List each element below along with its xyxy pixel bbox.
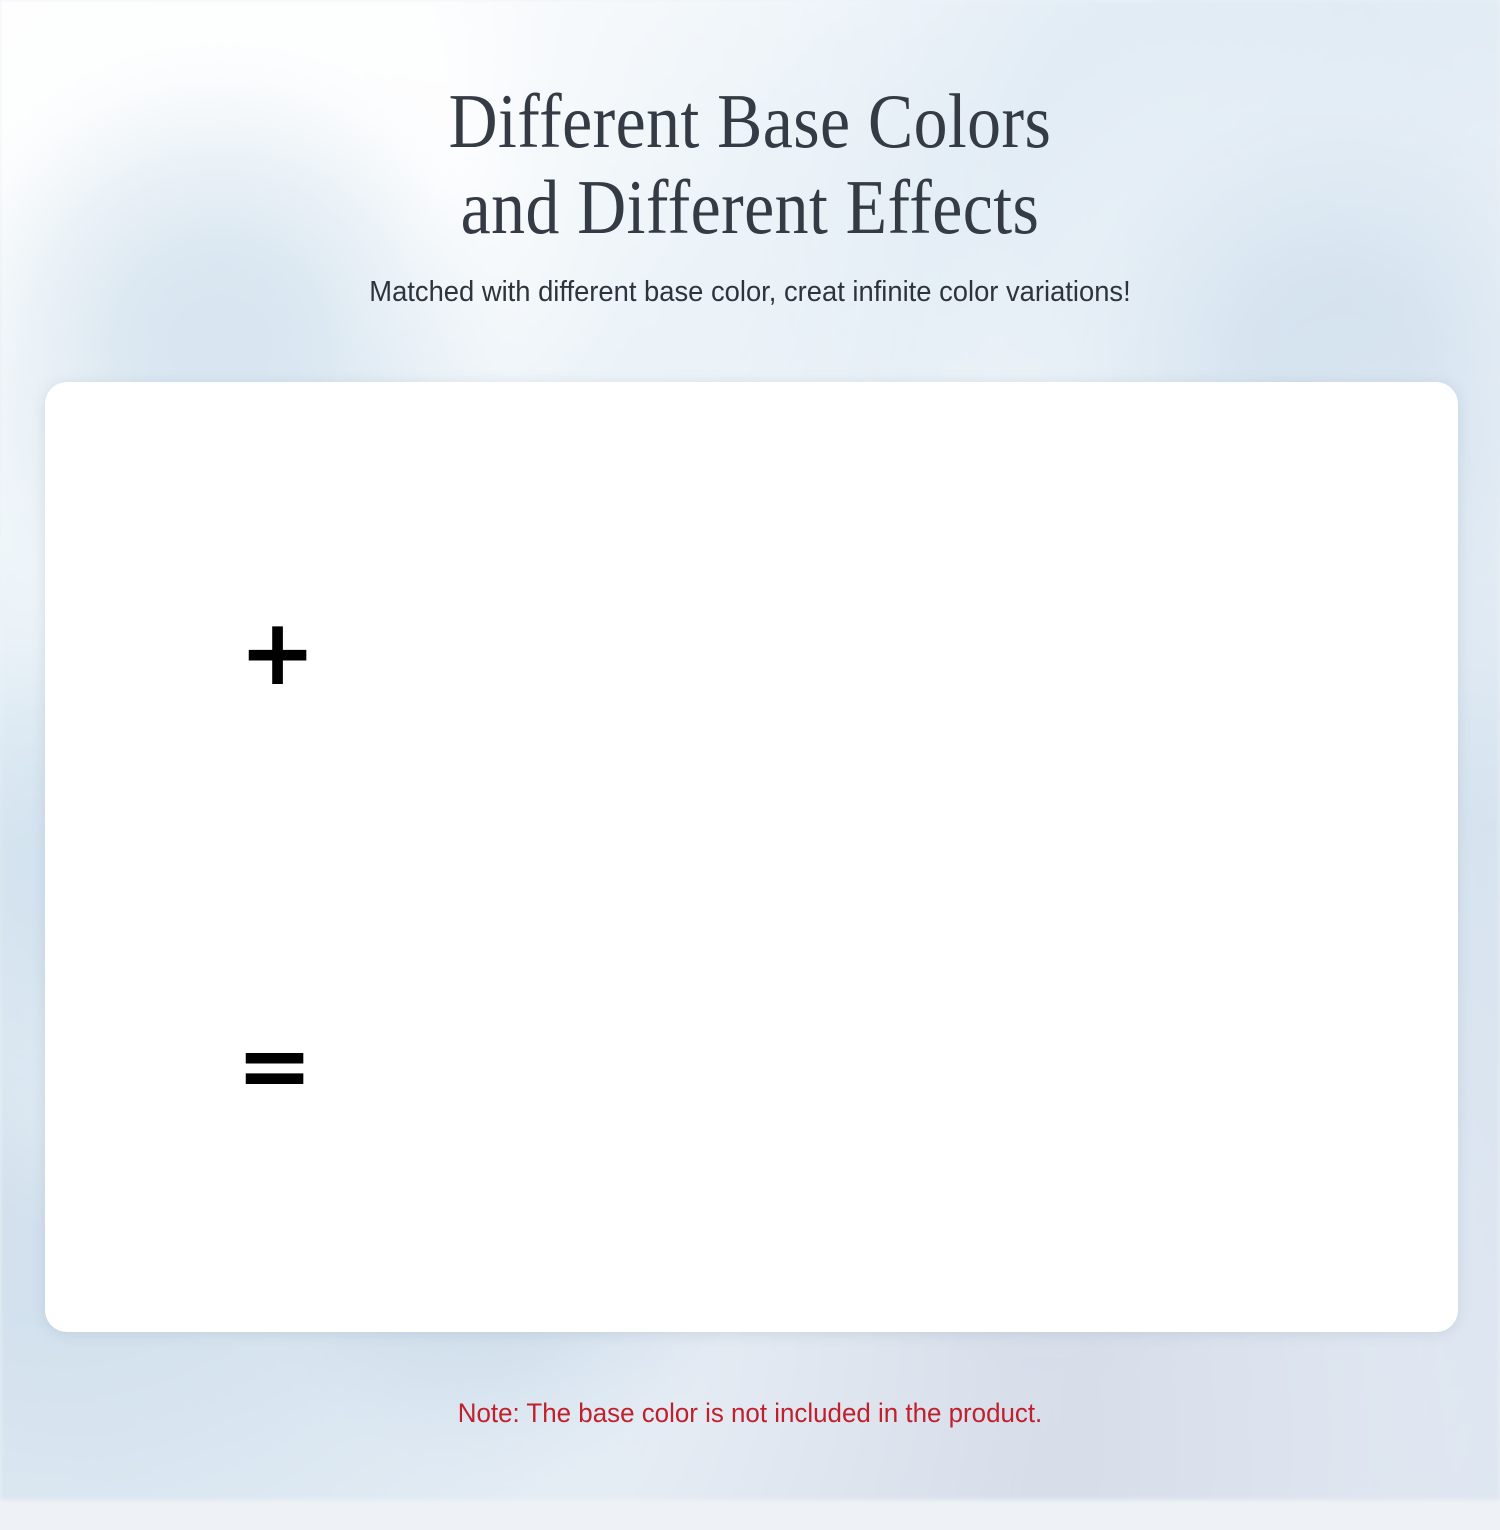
page-title-line2: and Different Effects: [90, 164, 1410, 250]
plus-operator-icon: +: [239, 607, 316, 699]
note-text: Note: The base color is not included in …: [30, 1398, 1470, 1429]
header: Different Base Colors and Different Effe…: [0, 78, 1500, 309]
page-title-line1: Different Base Colors: [90, 78, 1410, 164]
page-subtitle: Matched with different base color, creat…: [30, 276, 1470, 309]
comparison-card: [45, 382, 1458, 1332]
equals-operator-icon: =: [236, 1020, 313, 1112]
